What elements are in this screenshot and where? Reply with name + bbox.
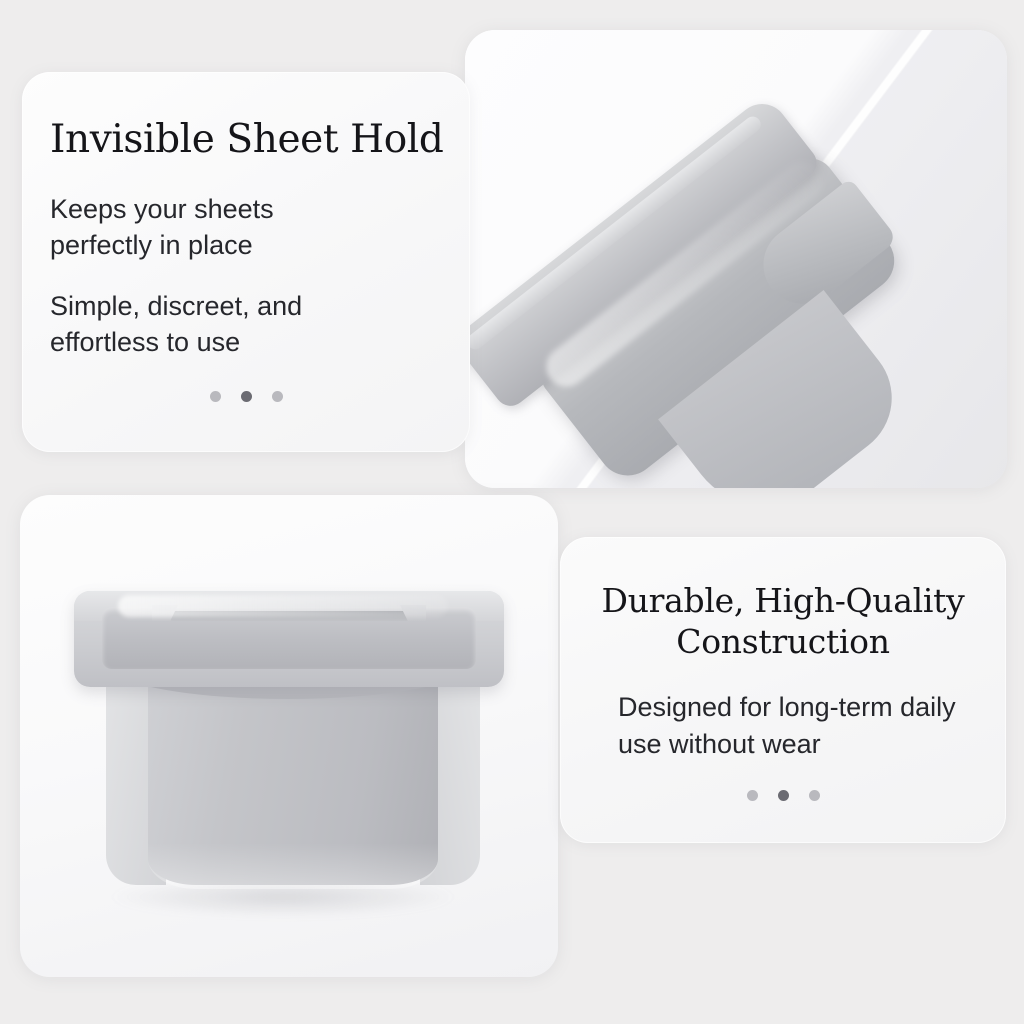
- feature-1-body-line-1: Keeps your sheets perfectly in place: [50, 192, 340, 264]
- feature-1-body-line-2: Simple, discreet, and effortless to use: [50, 289, 340, 361]
- dot-indicator-1[interactable]: [210, 391, 221, 402]
- dot-indicator-3[interactable]: [272, 391, 283, 402]
- dot-indicator-2[interactable]: [778, 790, 789, 801]
- feature-2-dots-indicator[interactable]: [586, 790, 980, 801]
- feature-2-body-line-1: Designed for long-term daily use without…: [586, 689, 980, 762]
- feature-2-headline: Durable, High-Quality Construction: [586, 581, 980, 663]
- product-image-card-frontview[interactable]: [20, 495, 558, 977]
- feature-1-dots-indicator[interactable]: [50, 391, 436, 402]
- dot-indicator-2[interactable]: [241, 391, 252, 402]
- feature-1-headline: Invisible Sheet Hold: [50, 118, 436, 162]
- product-frontview-illustration: [48, 577, 528, 917]
- product-image-card-closeup[interactable]: [465, 30, 1007, 488]
- feature-card-invisible-sheet-hold[interactable]: Invisible Sheet Hold Keeps your sheets p…: [22, 72, 470, 452]
- dot-indicator-3[interactable]: [809, 790, 820, 801]
- feature-2-headline-line-2: Construction: [586, 622, 980, 663]
- feature-grid: Invisible Sheet Hold Keeps your sheets p…: [0, 0, 1024, 1024]
- feature-2-headline-line-1: Durable, High-Quality: [586, 581, 980, 622]
- dot-indicator-1[interactable]: [747, 790, 758, 801]
- feature-card-durable-construction[interactable]: Durable, High-Quality Construction Desig…: [560, 537, 1006, 843]
- product-gloss-highlight: [118, 595, 448, 617]
